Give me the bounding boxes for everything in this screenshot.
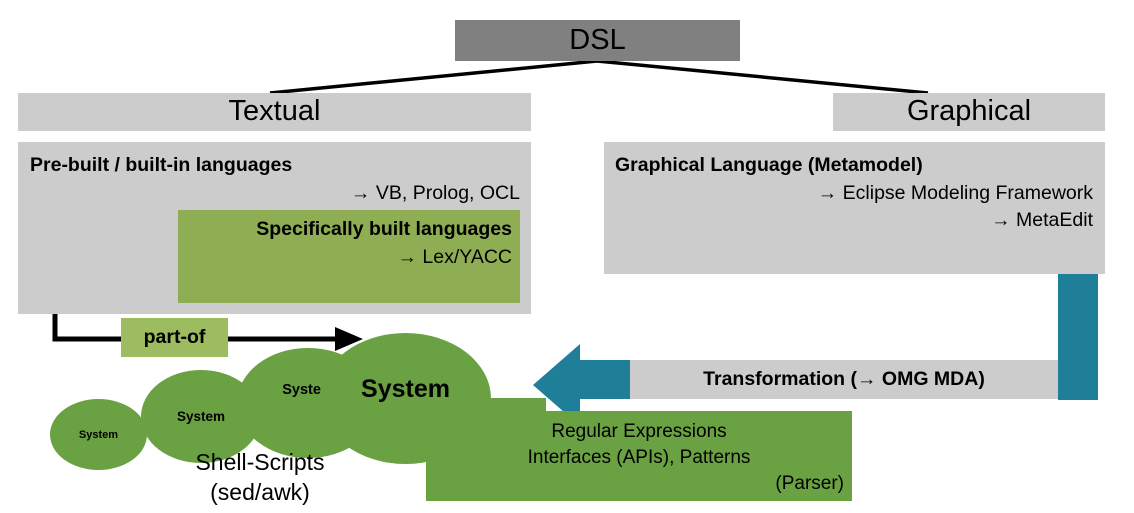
shell-scripts-caption-line-2: (sed/awk) bbox=[150, 477, 370, 507]
part-of-label: part-of bbox=[121, 318, 228, 357]
graphical-language-title: Graphical Language (Metamodel) bbox=[615, 152, 1095, 179]
graphical-header-box[interactable]: Graphical bbox=[833, 93, 1105, 131]
system-ellipse-2-label: System bbox=[177, 409, 225, 424]
system-ellipse-1[interactable]: System bbox=[50, 399, 147, 470]
dsl-root-label: DSL bbox=[455, 20, 740, 61]
connector-dsl-to-graphical bbox=[597, 61, 928, 93]
dsl-root-box[interactable]: DSL bbox=[455, 20, 740, 61]
transformation-label: Transformation (→ OMG MDA) bbox=[630, 360, 1058, 399]
techniques-line-1: Regular Expressions bbox=[426, 419, 852, 445]
graphical-example-metaedit: → MetaEdit bbox=[615, 207, 1093, 234]
graphical-example-emf: → Eclipse Modeling Framework bbox=[615, 180, 1093, 207]
system-ellipse-4-label: System bbox=[361, 375, 450, 404]
specific-languages-title: Specifically built languages bbox=[186, 216, 512, 243]
prebuilt-languages-title: Pre-built / built-in languages bbox=[30, 152, 510, 179]
shell-scripts-caption-line-1: Shell-Scripts bbox=[150, 447, 370, 477]
graphical-header-label: Graphical bbox=[833, 93, 1105, 130]
diagram-canvas: DSL Textual Graphical Pre-built / built-… bbox=[0, 0, 1134, 513]
specific-languages-examples: → Lex/YACC bbox=[186, 244, 512, 271]
prebuilt-languages-examples: → VB, Prolog, OCL bbox=[30, 180, 520, 207]
textual-header-label: Textual bbox=[18, 93, 531, 130]
techniques-line-2: Interfaces (APIs), Patterns bbox=[426, 445, 852, 471]
textual-header-box[interactable]: Textual bbox=[18, 93, 531, 131]
teal-vertical-connector bbox=[1058, 274, 1098, 400]
system-ellipse-1-label: System bbox=[79, 429, 118, 441]
connector-dsl-to-textual bbox=[270, 61, 597, 93]
techniques-line-3: (Parser) bbox=[426, 471, 844, 497]
